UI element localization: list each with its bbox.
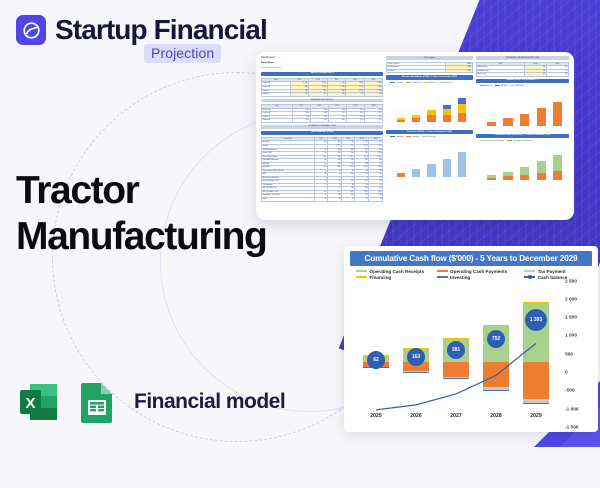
legend-swatch-cash-balance — [524, 276, 535, 277]
legend-label-tax-payment: Tax Payment — [538, 269, 566, 274]
dashboard-section-header: SALES VOLUME UNITS — [261, 72, 383, 76]
legend-label-operating-cash-payments: Operating Cash Payments — [450, 269, 507, 274]
chart-plot: 621633817521 393 20252026202720282029 — [352, 282, 558, 429]
dashboard-cashflow-header: Cash Flow ($'000) - 5 Years to December … — [386, 130, 472, 134]
chart-title: Cumulative Cash flow ($'000) - 5 Years t… — [350, 251, 592, 266]
legend-item-operating-cash-receipts[interactable]: Operating Cash Receipts — [356, 269, 433, 274]
core-financials-table: Fiscal Year20252026202720282029 Revenue1… — [261, 137, 383, 202]
x-axis-tick: 2025 — [370, 413, 382, 419]
brand-name: Startup Financial — [55, 14, 267, 46]
chart-legend: Operating Cash Receipts Operating Cash P… — [350, 266, 592, 282]
y-axis-tick: 0 — [565, 371, 568, 376]
legend-label-cash-balance: Cash balance — [538, 275, 568, 280]
chart-data-marker[interactable]: 1 393 — [525, 309, 547, 331]
sales-volume-table: Item20252026202720282029 Product A1 2001… — [261, 78, 383, 97]
revenue-breakdown-mini-chart — [386, 86, 472, 128]
legend-swatch-financing — [356, 276, 367, 279]
chart-x-axis: 20252026202720282029 — [356, 410, 556, 424]
y-axis-tick: -500 — [565, 389, 575, 394]
x-axis-tick: 2029 — [530, 413, 542, 419]
chart-plot-area: 621633817521 393 20252026202720282029 2 … — [350, 282, 592, 429]
working-capital-table: ItemDaysValue Debtors Days45185 Creditor… — [476, 62, 569, 77]
legend-item-cash-balance[interactable]: Cash balance — [524, 275, 588, 280]
page-title-line1: Tractor — [16, 168, 266, 214]
cash-flow-mini-chart — [386, 141, 472, 183]
dashboard-section-header-price: AVERAGE UNIT PRICE, $ — [261, 99, 383, 103]
profitability-mini-chart — [476, 90, 569, 132]
circular-swirl-logo-icon — [16, 15, 46, 45]
unit-price-table: Item20252026202720282029 Product A48.049… — [261, 104, 383, 123]
cumulative-cash-flow-chart-card[interactable]: Cumulative Cash flow ($'000) - 5 Years t… — [344, 246, 598, 432]
dashboard-section-header-core: Core Financials ($'000) — [261, 131, 383, 135]
legend-swatch-operating-cash-receipts — [356, 270, 367, 273]
google-sheets-icon — [75, 379, 119, 425]
y-axis-tick: 1 500 — [565, 316, 577, 321]
dashboard-preview-card[interactable]: Dashboard Model Name Go to Table of Cont… — [256, 52, 574, 220]
dashboard-title: Dashboard — [261, 56, 383, 60]
chart-y-axis: 2 5002 0001 5001 0005000-500-1 000-1 500 — [558, 282, 592, 429]
legend-item-tax-payment[interactable]: Tax Payment — [524, 269, 588, 274]
chart-markers-layer: 621633817521 393 — [356, 288, 556, 407]
y-axis-tick: 1 000 — [565, 334, 577, 339]
page-title: Tractor Manufacturing — [16, 168, 266, 260]
dashboard-toc-link[interactable]: Go to Table of Contents — [261, 67, 383, 70]
y-axis-tick: 2 500 — [565, 279, 577, 284]
footer-label: Financial model — [134, 390, 285, 414]
legend-label-operating-cash-receipts: Operating Cash Receipts — [370, 269, 425, 274]
mini-legend-products: Product A Product B Product C Product D — [386, 82, 472, 85]
x-axis-tick: 2028 — [490, 413, 502, 419]
dashboard-revenue-breakdown-header: Revenue Breakdown ($'000) - 5 Years to D… — [386, 75, 472, 79]
dashboard-column-right: OPERATING CAPITAL ASSUMPTIONS ItemDaysVa… — [476, 56, 569, 216]
chart-data-marker[interactable]: 752 — [487, 330, 505, 348]
y-axis-tick: -1 500 — [565, 426, 579, 431]
mini-legend-cashflow: Operating Investing Financing — [386, 136, 472, 139]
mini-legend-cumulative: Operating Cash Receipts Operating Cash P… — [476, 140, 569, 143]
dashboard-column-left: Dashboard Model Name Go to Table of Cont… — [261, 56, 383, 216]
chart-data-marker[interactable]: 163 — [407, 348, 425, 366]
legend-swatch-tax-payment — [524, 270, 535, 273]
dashboard-cumulative-header: Cumulative Cash flow ($'000) - 5 Years t… — [476, 134, 569, 138]
dashboard-charts-inputs-header: Charts Inputs — [386, 56, 472, 60]
svg-text:X: X — [25, 395, 35, 412]
brand-lockup: Startup Financial — [16, 14, 267, 46]
x-axis-tick: 2026 — [410, 413, 422, 419]
dashboard-section-header-opex: OPERATING EXPENSES / COST — [261, 125, 383, 129]
brand-subtitle-badge: Projection — [144, 44, 221, 63]
legend-item-financing[interactable]: Financing — [356, 275, 433, 280]
x-axis-tick: 2027 — [450, 413, 462, 419]
legend-item-investing[interactable]: Investing — [437, 275, 521, 280]
legend-swatch-operating-cash-payments — [437, 270, 448, 273]
dashboard-working-capital-header: OPERATING CAPITAL ASSUMPTIONS — [476, 56, 569, 60]
legend-label-investing: Investing — [450, 275, 470, 280]
page-title-line2: Manufacturing — [16, 214, 266, 260]
dashboard-profitability-header: BREAK-EVEN / PROFITABILITY — [476, 79, 569, 83]
chart-data-marker[interactable]: 381 — [447, 341, 465, 359]
charts-inputs-table: Chart Currency$'000 Denomination1 000 Ta… — [386, 62, 472, 74]
y-axis-tick: 2 000 — [565, 297, 577, 302]
y-axis-tick: -1 000 — [565, 407, 579, 412]
dashboard-subtitle: Model Name — [261, 62, 383, 65]
y-axis-tick: 500 — [565, 352, 573, 357]
cumulative-cash-mini-chart — [476, 144, 569, 186]
legend-swatch-investing — [437, 276, 448, 279]
microsoft-excel-icon: X — [16, 379, 62, 425]
legend-item-operating-cash-payments[interactable]: Operating Cash Payments — [437, 269, 521, 274]
mini-legend-profitability: Revenue EBITDA EBITDA % — [476, 85, 569, 88]
dashboard-column-middle: Charts Inputs Chart Currency$'000 Denomi… — [386, 56, 472, 216]
footer-formats: X Financial model — [16, 379, 285, 425]
legend-label-financing: Financing — [370, 275, 392, 280]
chart-data-marker[interactable]: 62 — [367, 351, 385, 369]
